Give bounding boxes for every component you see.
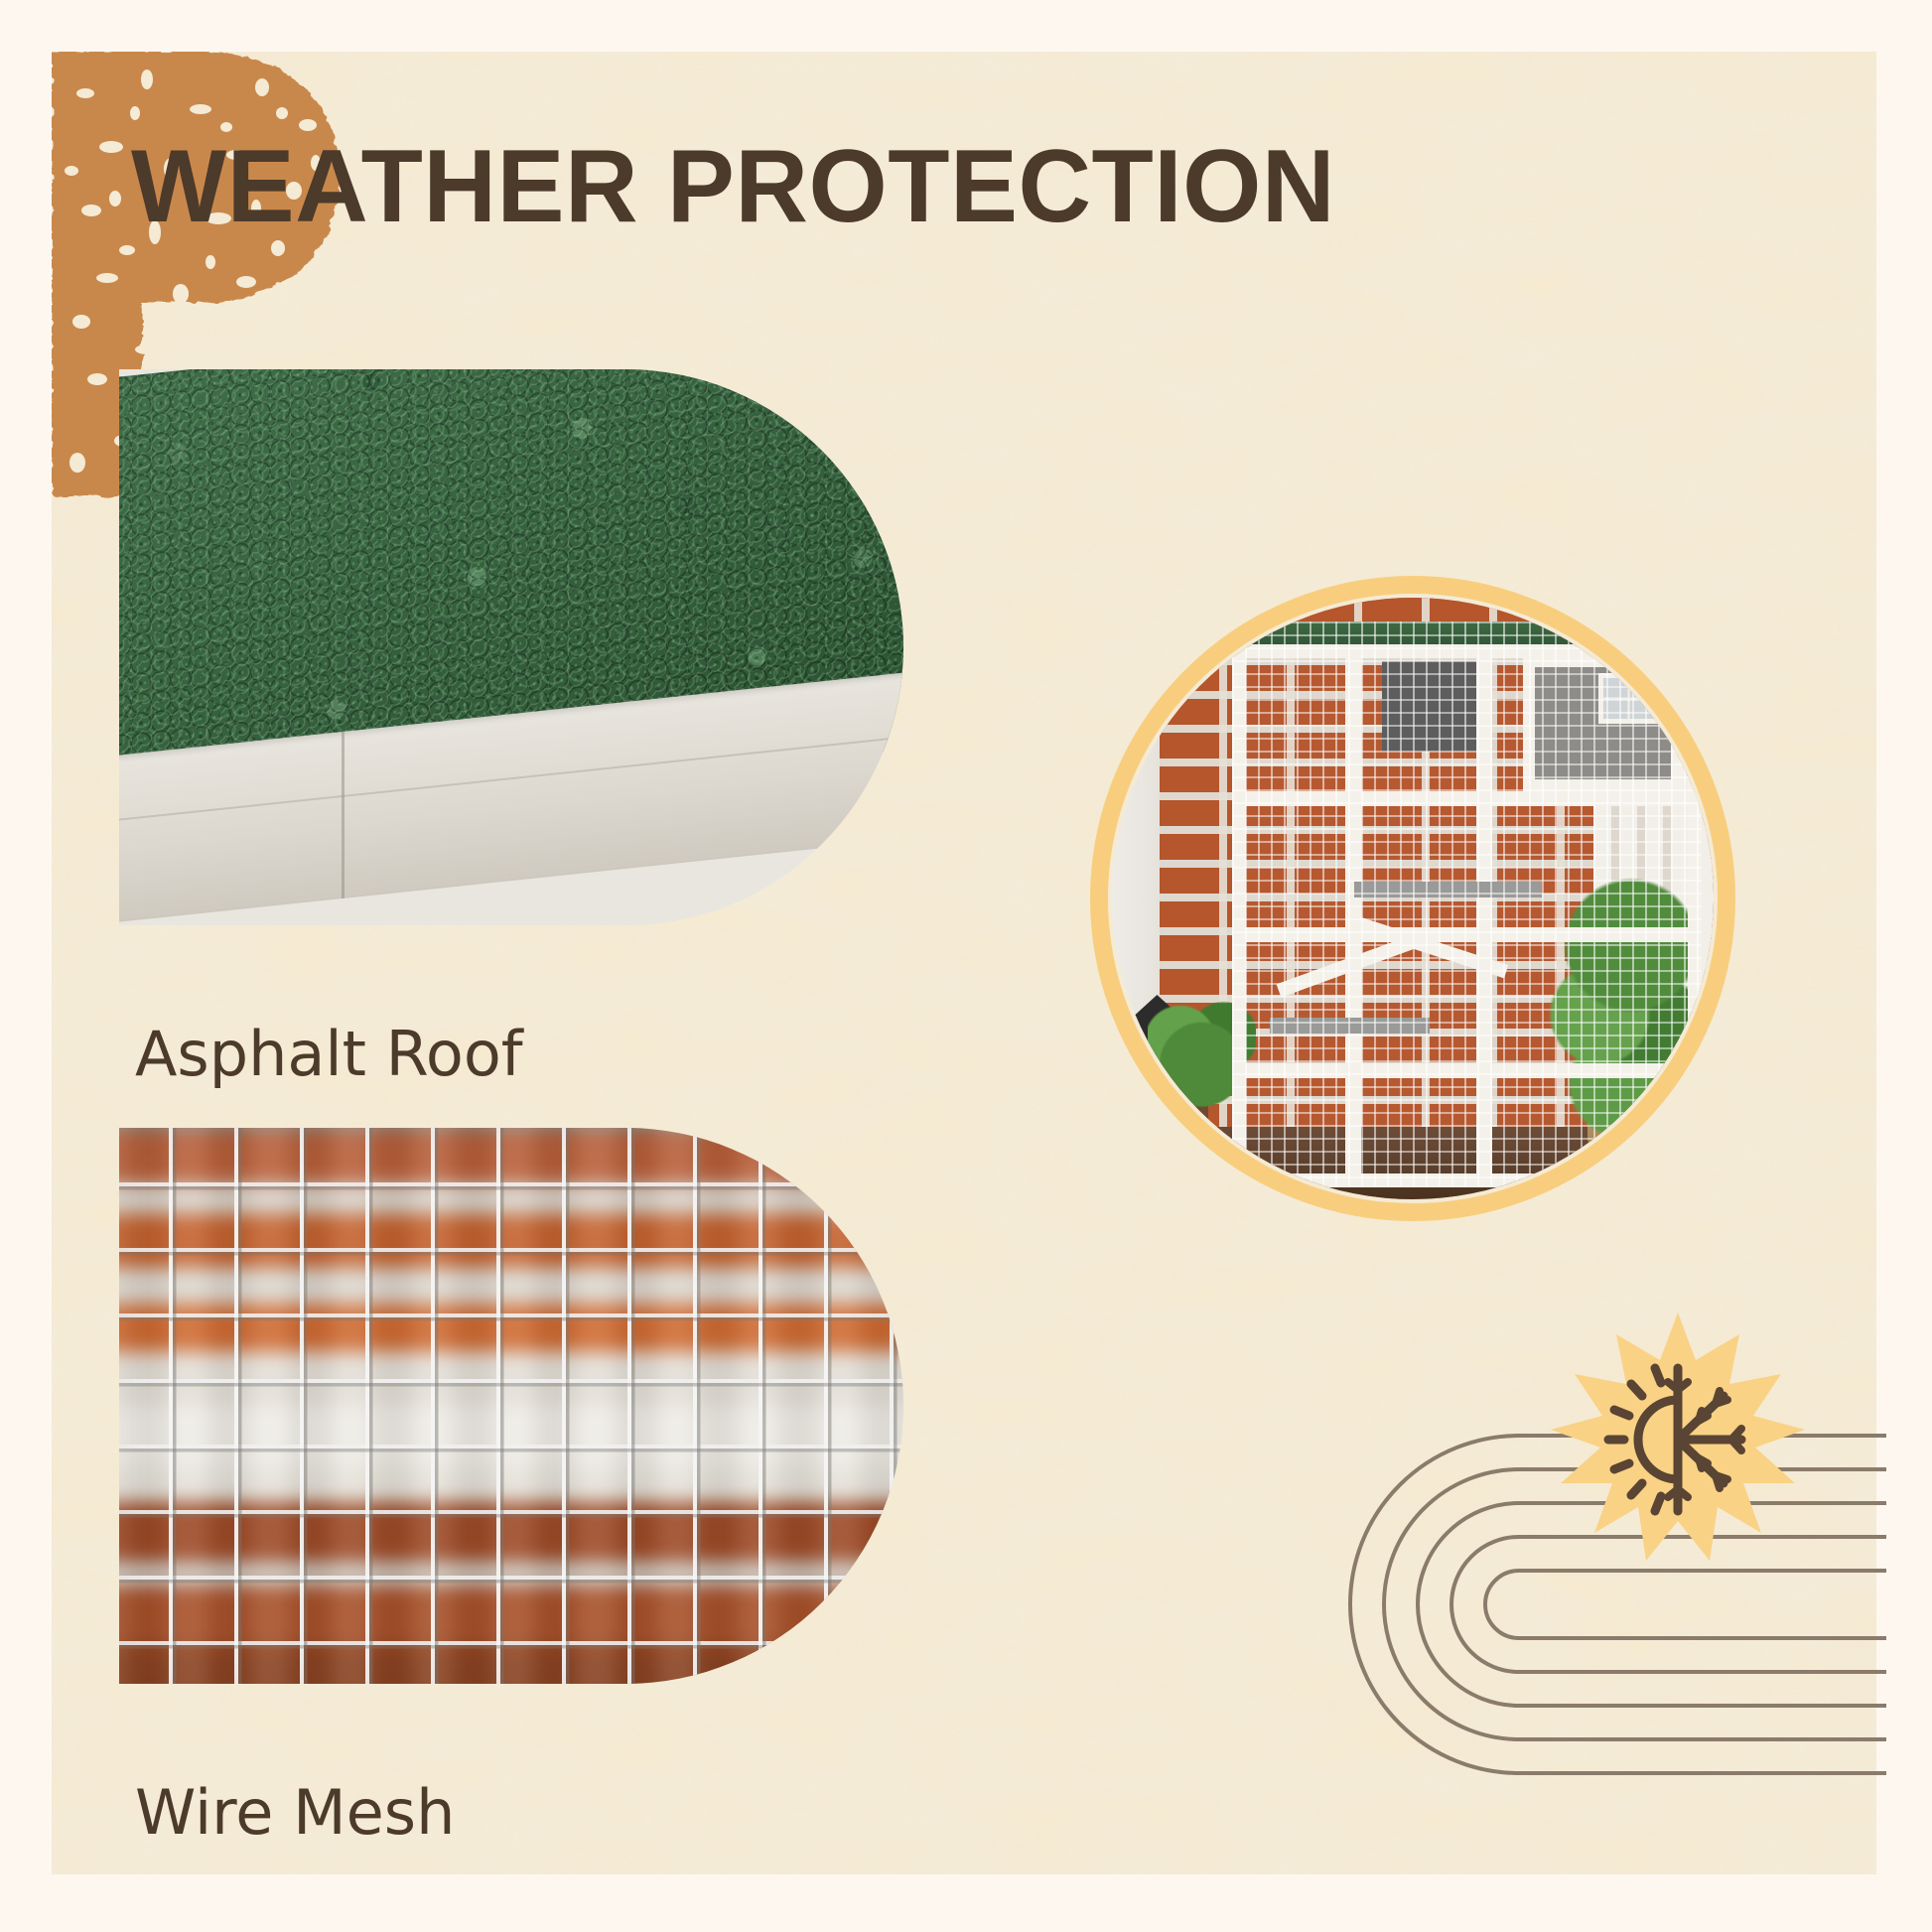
infographic-canvas: WEATHER PROTECTION Asphalt Roof Wire Mes… bbox=[0, 0, 1932, 1932]
feature-image-wire-mesh bbox=[119, 1128, 903, 1684]
wire-mesh-grid bbox=[119, 1128, 903, 1684]
feature-label-asphalt-roof: Asphalt Roof bbox=[135, 1019, 523, 1090]
asphalt-roof-artwork bbox=[119, 369, 903, 925]
feature-image-asphalt-roof bbox=[119, 369, 903, 925]
product-photo-ring bbox=[1090, 576, 1735, 1221]
feature-label-wire-mesh: Wire Mesh bbox=[135, 1777, 455, 1849]
wire-mesh-artwork bbox=[119, 1128, 903, 1684]
weather-badge bbox=[1551, 1312, 1805, 1567]
page-title: WEATHER PROTECTION bbox=[131, 131, 1396, 242]
